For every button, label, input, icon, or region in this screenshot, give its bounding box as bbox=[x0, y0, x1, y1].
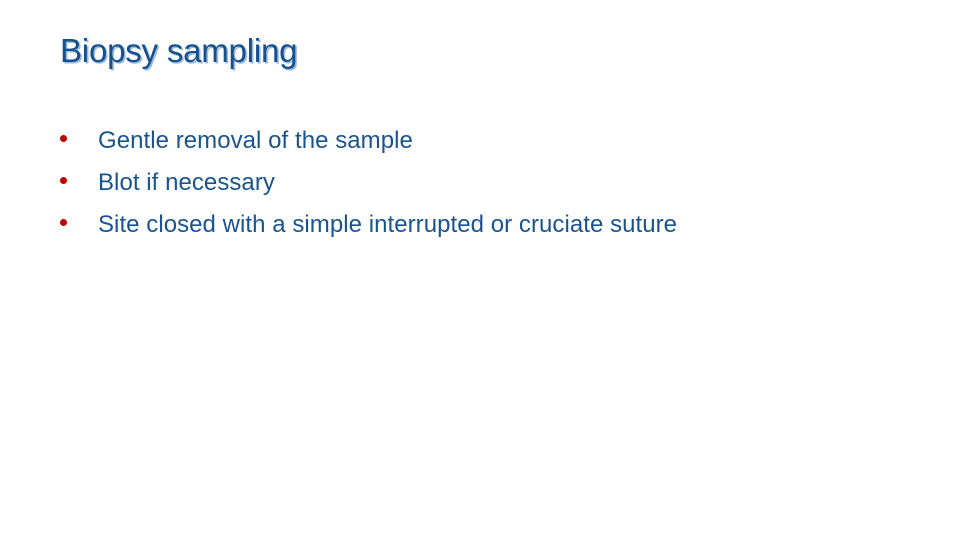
round-bullet-icon bbox=[60, 168, 98, 184]
list-item: Gentle removal of the sample bbox=[60, 126, 920, 168]
round-bullet-icon bbox=[60, 126, 98, 142]
list-item: Blot if necessary bbox=[60, 168, 920, 210]
bullet-list: Gentle removal of the sample Blot if nec… bbox=[60, 126, 920, 252]
empty-content-region bbox=[60, 262, 900, 512]
list-item-label: Blot if necessary bbox=[98, 168, 920, 198]
list-item-label: Gentle removal of the sample bbox=[98, 126, 920, 156]
round-bullet-icon bbox=[60, 210, 98, 226]
page-title: Biopsy sampling bbox=[60, 30, 900, 72]
presentation-slide: Biopsy sampling Gentle removal of the sa… bbox=[0, 0, 960, 540]
title-placeholder: Biopsy sampling bbox=[60, 30, 900, 82]
list-item: Site closed with a simple interrupted or… bbox=[60, 210, 920, 252]
list-item-label: Site closed with a simple interrupted or… bbox=[98, 210, 920, 240]
